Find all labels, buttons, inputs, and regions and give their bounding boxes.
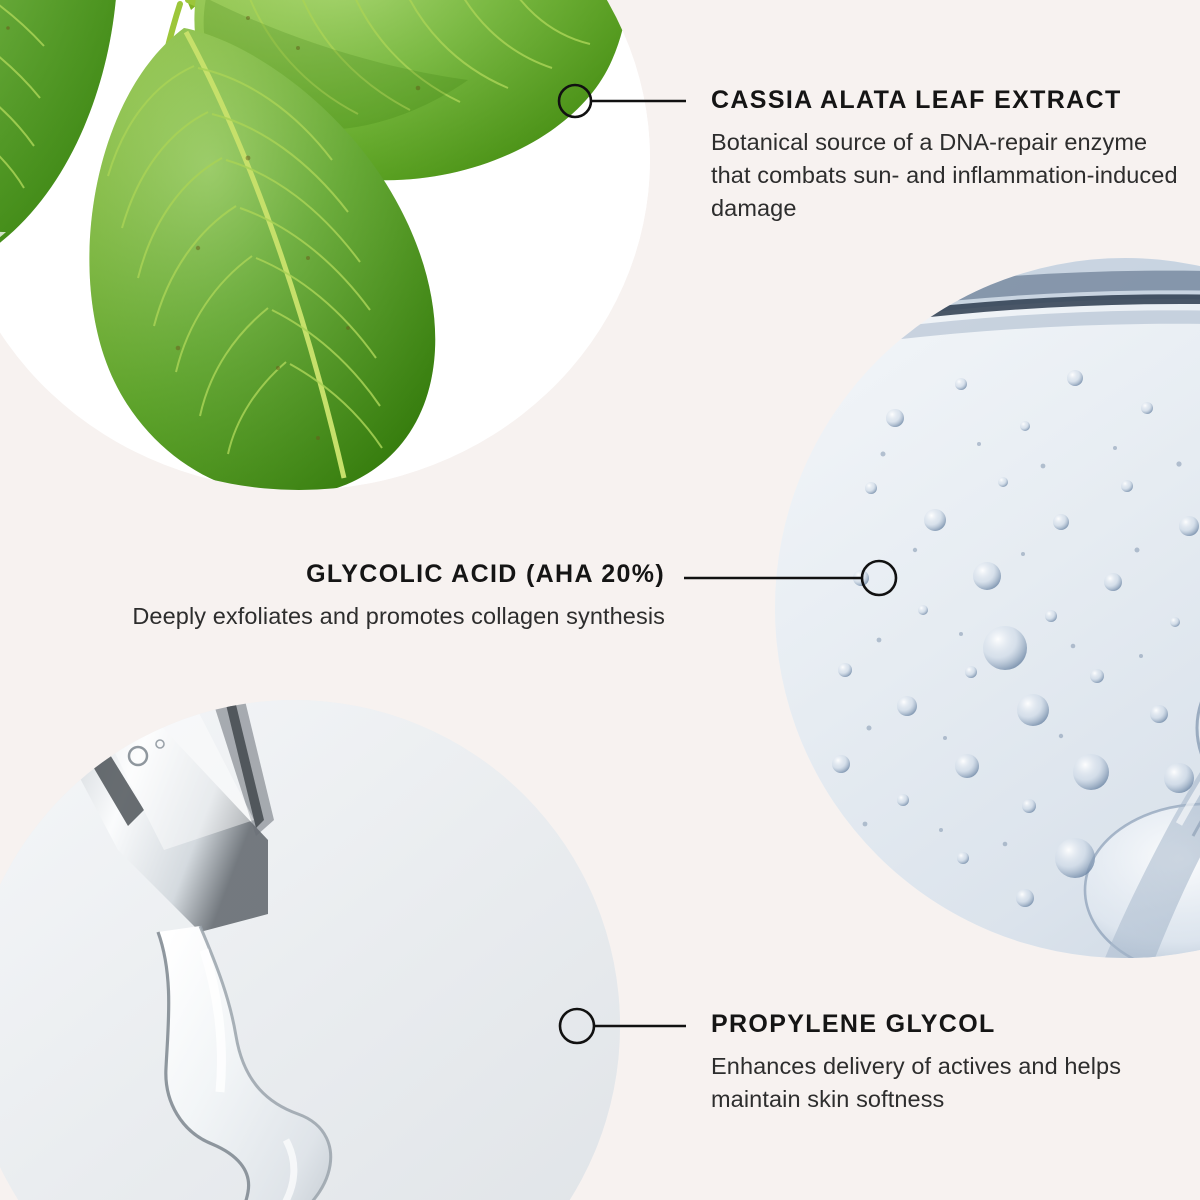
callout-cassia-alata-leaf-extract: CASSIA ALATA LEAF EXTRACT Botanical sour… bbox=[711, 86, 1181, 225]
callout-title: CASSIA ALATA LEAF EXTRACT bbox=[711, 86, 1181, 115]
marker-circle-glycolic[interactable] bbox=[862, 561, 896, 595]
marker-circle-propylene[interactable] bbox=[560, 1009, 594, 1043]
callout-title: GLYCOLIC ACID (AHA 20%) bbox=[60, 560, 665, 589]
callout-description: Deeply exfoliates and promotes collagen … bbox=[60, 600, 665, 633]
ingredient-infographic: CASSIA ALATA LEAF EXTRACT Botanical sour… bbox=[0, 0, 1200, 1200]
callout-title: PROPYLENE GLYCOL bbox=[711, 1010, 1141, 1039]
marker-circle-cassia[interactable] bbox=[559, 85, 591, 117]
callout-description: Enhances delivery of actives and helps m… bbox=[711, 1050, 1141, 1116]
callout-propylene-glycol: PROPYLENE GLYCOL Enhances delivery of ac… bbox=[711, 1010, 1141, 1116]
callout-description: Botanical source of a DNA-repair enzyme … bbox=[711, 126, 1181, 225]
callout-glycolic-acid: GLYCOLIC ACID (AHA 20%) Deeply exfoliate… bbox=[60, 560, 665, 633]
